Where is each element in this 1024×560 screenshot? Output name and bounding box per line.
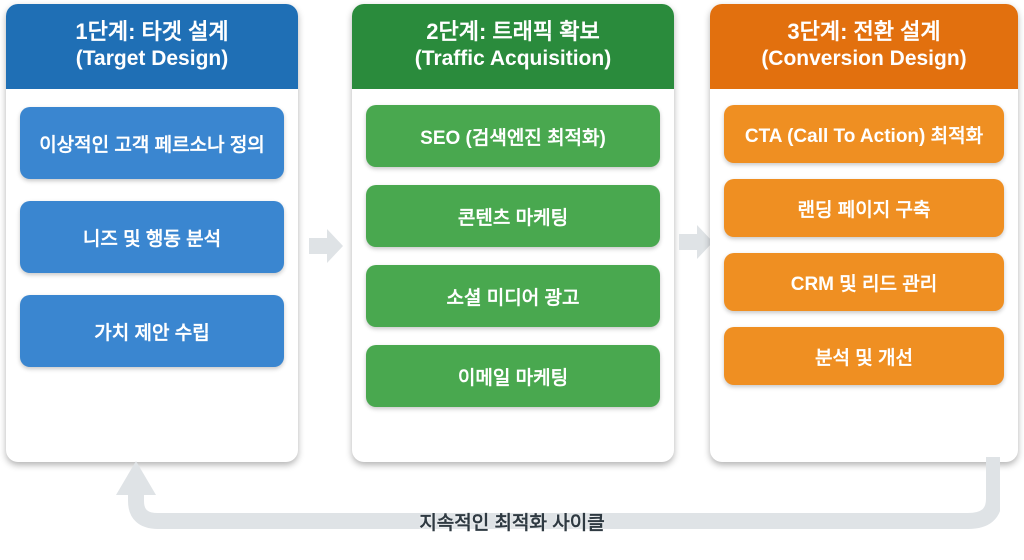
stage-2-items: SEO (검색엔진 최적화) 콘텐츠 마케팅 소셜 미디어 광고 이메일 마케팅 (352, 89, 674, 462)
stage-column-2: 2단계: 트래픽 확보 (Traffic Acquisition) SEO (검… (352, 4, 674, 462)
stage-3-title: 3단계: 전환 설계 (718, 18, 1010, 46)
stage-1-item-1[interactable]: 이상적인 고객 페르소나 정의 (20, 107, 284, 179)
stage-3-subtitle: (Conversion Design) (718, 46, 1010, 73)
stage-3-item-3[interactable]: CRM 및 리드 관리 (724, 253, 1004, 311)
stage-column-1: 1단계: 타겟 설계 (Target Design) 이상적인 고객 페르소나 … (6, 4, 298, 462)
right-arrow-icon (307, 226, 345, 266)
stage-2-item-4[interactable]: 이메일 마케팅 (366, 345, 660, 407)
stage-2-item-3[interactable]: 소셜 미디어 광고 (366, 265, 660, 327)
stage-3-item-2[interactable]: 랜딩 페이지 구축 (724, 179, 1004, 237)
stage-1-title: 1단계: 타겟 설계 (14, 18, 290, 46)
stage-1-items: 이상적인 고객 페르소나 정의 니즈 및 행동 분석 가치 제안 수립 (6, 89, 298, 462)
stage-3-item-4[interactable]: 분석 및 개선 (724, 327, 1004, 385)
stage-2-subtitle: (Traffic Acquisition) (360, 46, 666, 73)
loop-arrow-icon (110, 455, 1000, 555)
stage-1-header: 1단계: 타겟 설계 (Target Design) (6, 4, 298, 89)
stage-2-title: 2단계: 트래픽 확보 (360, 18, 666, 46)
stage-2-item-1[interactable]: SEO (검색엔진 최적화) (366, 105, 660, 167)
stage-column-3: 3단계: 전환 설계 (Conversion Design) CTA (Call… (710, 4, 1018, 462)
stage-3-items: CTA (Call To Action) 최적화 랜딩 페이지 구축 CRM 및… (710, 89, 1018, 462)
stage-3-item-1[interactable]: CTA (Call To Action) 최적화 (724, 105, 1004, 163)
stage-1-item-3[interactable]: 가치 제안 수립 (20, 295, 284, 367)
stage-2-item-2[interactable]: 콘텐츠 마케팅 (366, 185, 660, 247)
stage-1-item-2[interactable]: 니즈 및 행동 분석 (20, 201, 284, 273)
stage-2-header: 2단계: 트래픽 확보 (Traffic Acquisition) (352, 4, 674, 89)
cycle-label: 지속적인 최적화 사이클 (292, 508, 732, 535)
stage-3-header: 3단계: 전환 설계 (Conversion Design) (710, 4, 1018, 89)
stage-1-subtitle: (Target Design) (14, 46, 290, 73)
diagram-canvas: 1단계: 타겟 설계 (Target Design) 이상적인 고객 페르소나 … (0, 0, 1024, 559)
